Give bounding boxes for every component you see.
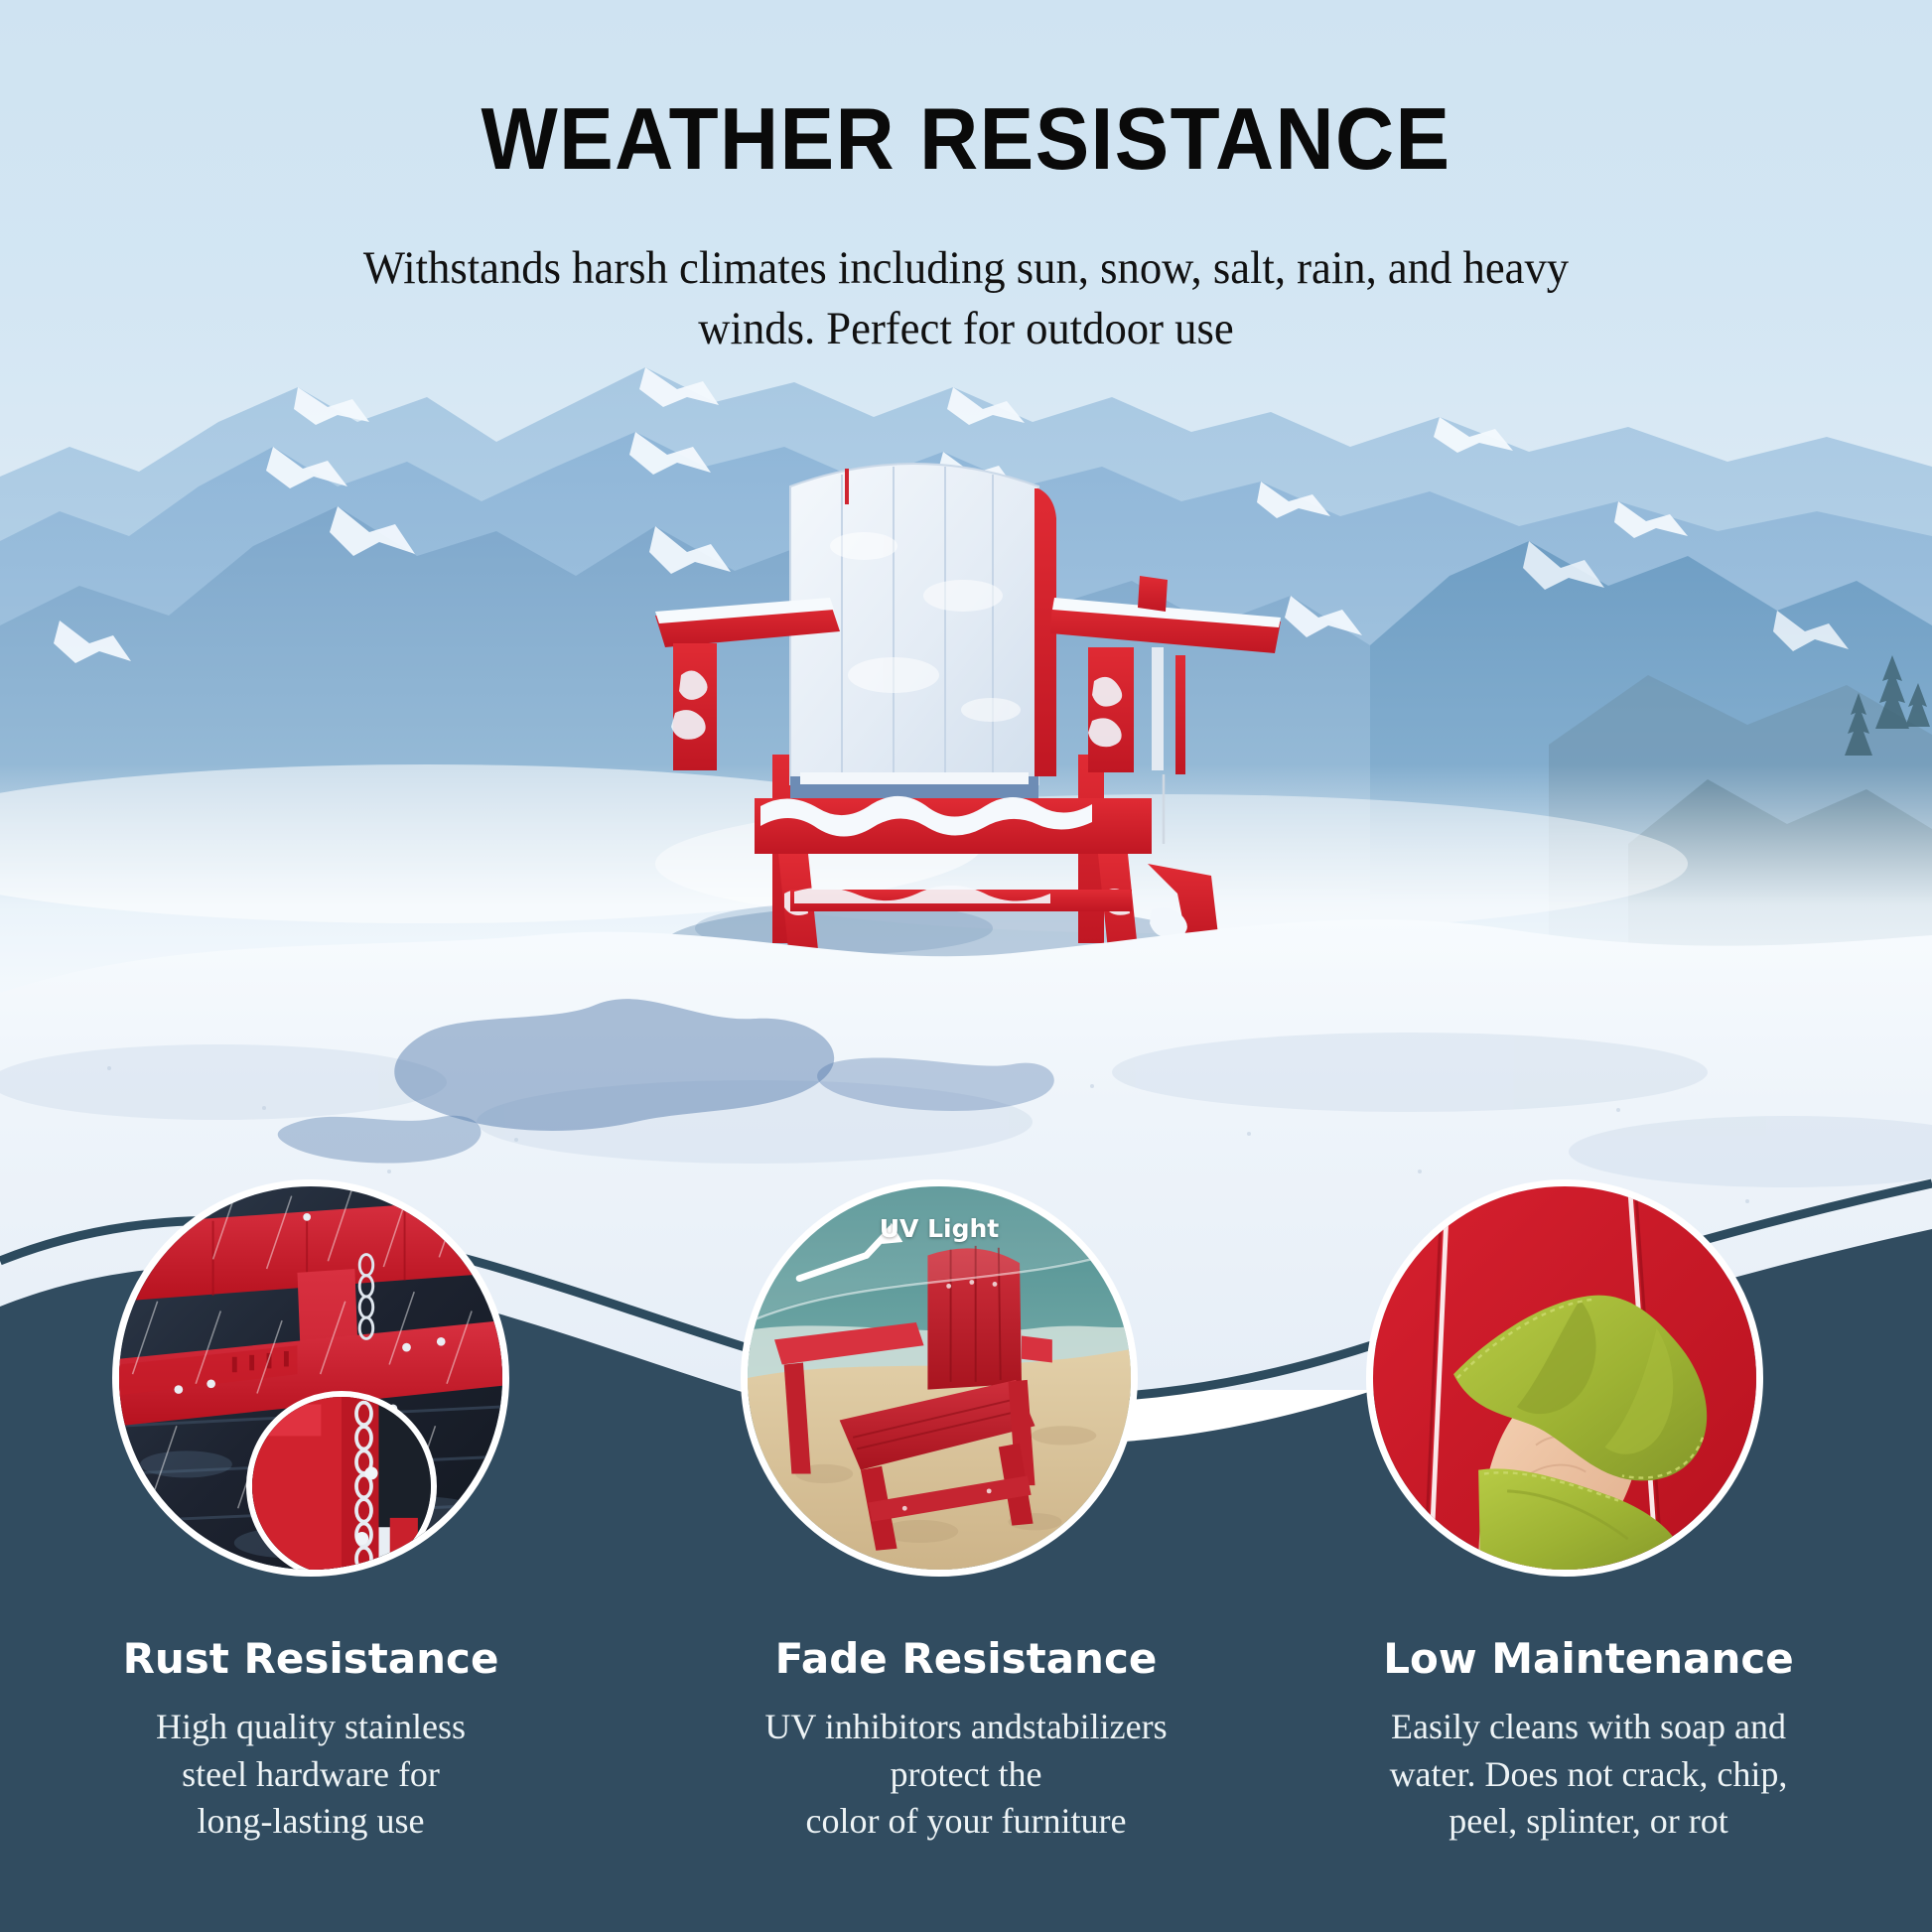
uv-light-label: UV Light — [880, 1214, 1000, 1243]
page-title: WEATHER RESISTANCE — [68, 91, 1864, 186]
feature-text-fade-resistance: Fade Resistance UV inhibitors andstabili… — [688, 1636, 1244, 1846]
fade-resistance-photo — [748, 1186, 1131, 1570]
page-subtitle: Withstands harsh climates including sun,… — [359, 238, 1573, 359]
low-maintenance-photo — [1373, 1186, 1756, 1570]
feature-image-fade-resistance[interactable]: UV Light — [741, 1179, 1138, 1577]
feature-description-rust-resistance: High quality stainless steel hardware fo… — [33, 1704, 589, 1846]
feature-title-low-maintenance: Low Maintenance — [1311, 1636, 1866, 1682]
feature-text-rust-resistance: Rust Resistance High quality stainless s… — [33, 1636, 589, 1846]
infographic-canvas: UV Light — [0, 0, 1932, 1932]
feature-title-rust-resistance: Rust Resistance — [33, 1636, 589, 1682]
rust-resistance-inset-closeup[interactable] — [246, 1391, 437, 1577]
feature-image-low-maintenance[interactable] — [1366, 1179, 1763, 1577]
feature-description-fade-resistance: UV inhibitors andstabilizers protect the… — [688, 1704, 1244, 1846]
feature-image-rust-resistance[interactable] — [112, 1179, 509, 1577]
feature-description-low-maintenance: Easily cleans with soap and water. Does … — [1311, 1704, 1866, 1846]
feature-title-fade-resistance: Fade Resistance — [688, 1636, 1244, 1682]
feature-text-low-maintenance: Low Maintenance Easily cleans with soap … — [1311, 1636, 1866, 1846]
